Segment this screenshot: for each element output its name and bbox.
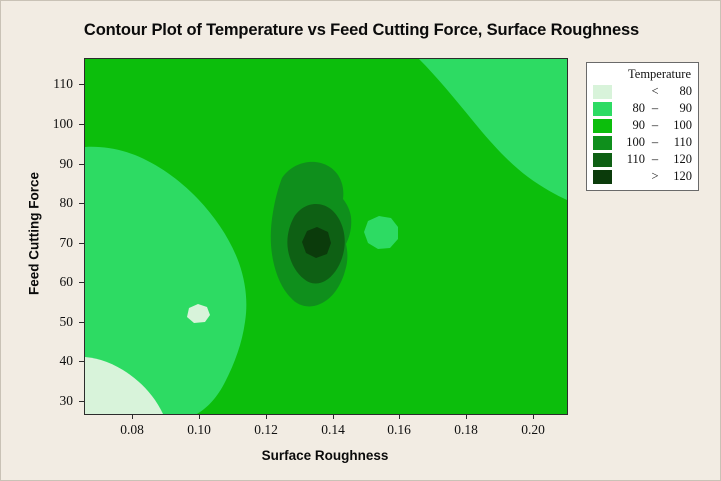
ytick-mark-90 <box>79 164 84 165</box>
legend-row: > 120 <box>593 168 692 185</box>
ytick-mark-80 <box>79 203 84 204</box>
legend-operator: – <box>647 152 663 167</box>
legend-row: 100 – 110 <box>593 134 692 151</box>
xtick-label: 0.20 <box>510 422 556 438</box>
legend-swatch-90-100 <box>593 119 612 133</box>
legend-row: 110 – 120 <box>593 151 692 168</box>
legend-high-value: 110 <box>663 135 692 150</box>
legend-high-value: 80 <box>663 84 692 99</box>
legend-swatch-80-90 <box>593 102 612 116</box>
ytick-mark-60 <box>79 282 84 283</box>
legend-high-value: 120 <box>663 169 692 184</box>
legend: Temperature < 80 80 – 90 90 – 100 100 – … <box>586 62 699 191</box>
legend-swatch-below-80 <box>593 85 612 99</box>
xtick-mark-010 <box>199 414 200 419</box>
legend-operator: < <box>647 84 663 99</box>
xtick-mark-016 <box>399 414 400 419</box>
xtick-label: 0.14 <box>310 422 356 438</box>
legend-swatch-100-110 <box>593 136 612 150</box>
legend-operator: – <box>647 118 663 133</box>
xtick-mark-018 <box>466 414 467 419</box>
ytick-label: 50 <box>33 314 73 330</box>
legend-high-value: 100 <box>663 118 692 133</box>
y-axis-label: Feed Cutting Force <box>27 154 42 314</box>
legend-low-value: 100 <box>612 135 647 150</box>
legend-operator: > <box>647 169 663 184</box>
legend-low-value: 80 <box>612 101 647 116</box>
legend-high-value: 90 <box>663 101 692 116</box>
legend-low-value: 90 <box>612 118 647 133</box>
ytick-mark-40 <box>79 361 84 362</box>
ytick-label: 40 <box>33 353 73 369</box>
legend-row: 80 – 90 <box>593 100 692 117</box>
xtick-label: 0.16 <box>376 422 422 438</box>
legend-low-value: 110 <box>612 152 647 167</box>
legend-high-value: 120 <box>663 152 692 167</box>
legend-swatch-above-120 <box>593 170 612 184</box>
ytick-mark-100 <box>79 124 84 125</box>
contour-plot-figure: Contour Plot of Temperature vs Feed Cutt… <box>0 0 721 481</box>
xtick-mark-008 <box>132 414 133 419</box>
ytick-mark-30 <box>79 401 84 402</box>
ytick-label: 110 <box>33 76 73 92</box>
legend-swatch-110-120 <box>593 153 612 167</box>
xtick-mark-020 <box>533 414 534 419</box>
ytick-label: 30 <box>33 393 73 409</box>
ytick-label: 100 <box>33 116 73 132</box>
xtick-label: 0.08 <box>109 422 155 438</box>
legend-row: < 80 <box>593 83 692 100</box>
legend-operator: – <box>647 135 663 150</box>
xtick-label: 0.12 <box>243 422 289 438</box>
xtick-mark-012 <box>266 414 267 419</box>
x-axis-label: Surface Roughness <box>1 448 649 463</box>
ytick-mark-110 <box>79 84 84 85</box>
plot-area <box>84 58 568 415</box>
legend-operator: – <box>647 101 663 116</box>
ytick-mark-70 <box>79 243 84 244</box>
page-title: Contour Plot of Temperature vs Feed Cutt… <box>1 21 721 40</box>
legend-title: Temperature <box>593 67 692 82</box>
xtick-label: 0.18 <box>443 422 489 438</box>
contour-svg <box>85 59 567 414</box>
legend-row: 90 – 100 <box>593 117 692 134</box>
ytick-mark-50 <box>79 322 84 323</box>
xtick-label: 0.10 <box>176 422 222 438</box>
xtick-mark-014 <box>333 414 334 419</box>
